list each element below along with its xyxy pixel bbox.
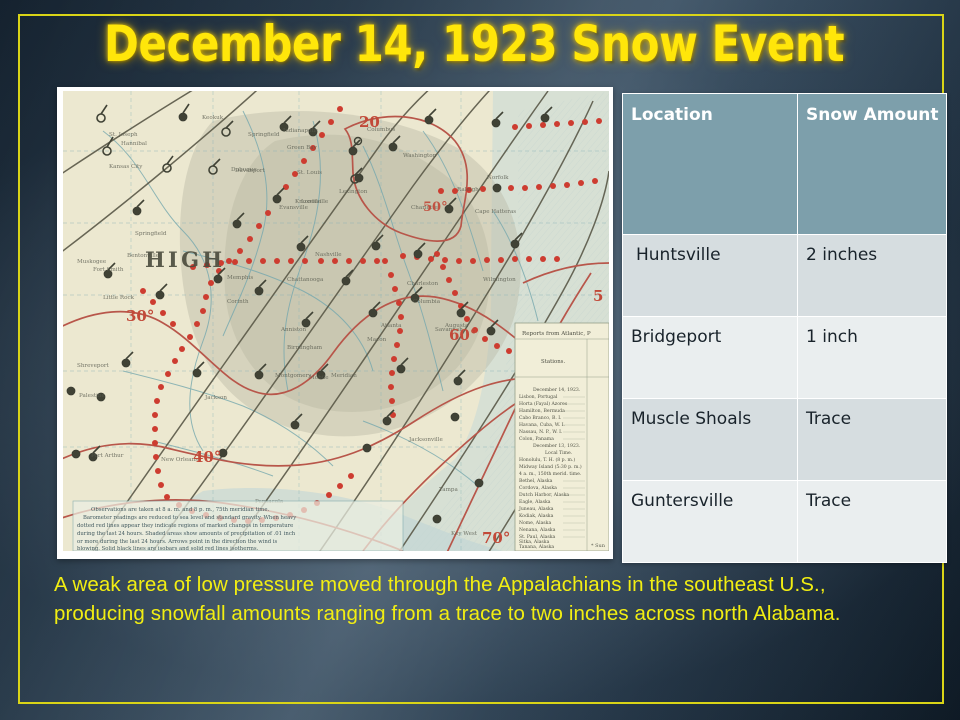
cell-amount: Trace [798,481,947,563]
cell-amount: 1 inch [798,317,947,399]
column-header-location: Location [623,94,798,235]
table-row: Bridgeport 1 inch [623,317,947,399]
weather-map-figure: St. Joseph Hannibal Kansas City Keokuk S… [57,87,613,559]
weather-map-canvas: St. Joseph Hannibal Kansas City Keokuk S… [63,91,609,551]
table-row: Muscle Shoals Trace [623,399,947,481]
historic-weather-map-graphic: St. Joseph Hannibal Kansas City Keokuk S… [63,91,609,551]
slide: December 14, 1923 Snow Event [0,0,960,720]
table-header-row: Location Snow Amount [623,94,947,235]
snow-amount-table: Location Snow Amount Huntsville 2 inches… [622,93,947,563]
page-title: December 14, 1923 Snow Event [104,14,776,76]
column-header-snow-amount: Snow Amount [798,94,947,235]
cell-location: Guntersville [623,481,798,563]
table-row: Huntsville 2 inches [623,235,947,317]
cell-location: Bridgeport [623,317,798,399]
cell-location: Muscle Shoals [623,399,798,481]
table-row: Guntersville Trace [623,481,947,563]
cell-amount: 2 inches [798,235,947,317]
cell-location: Huntsville [623,235,798,317]
cell-amount: Trace [798,399,947,481]
slide-caption: A weak area of low pressure moved throug… [54,570,910,628]
